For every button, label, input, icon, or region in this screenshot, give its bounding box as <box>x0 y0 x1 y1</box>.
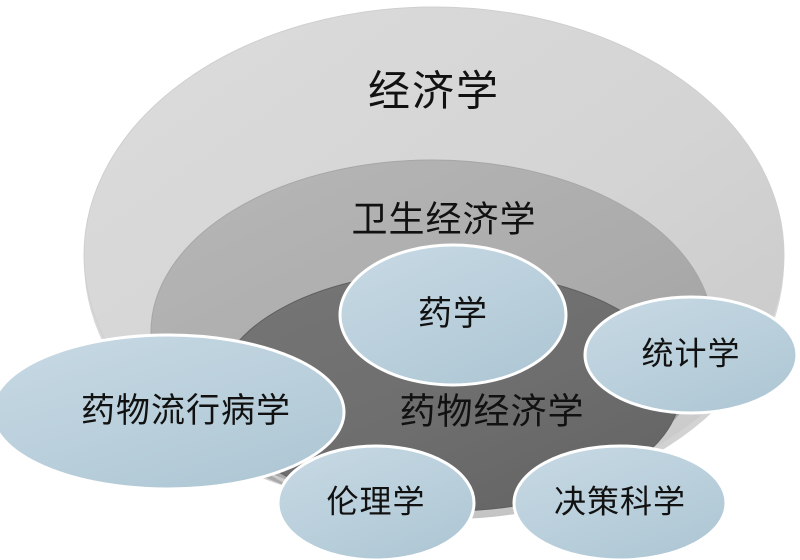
ring-health-economics-label: 卫生经济学 <box>351 199 536 239</box>
venn-diagram-canvas: 经济学 卫生经济学 药物经济学 药学 统计学 药物流行病学 <box>0 0 800 560</box>
node-pharmacy[interactable]: 药学 <box>340 245 566 385</box>
node-pharmacoepidemiology-label: 药物流行病学 <box>81 392 291 430</box>
venn-diagram-svg: 经济学 卫生经济学 药物经济学 药学 统计学 药物流行病学 <box>0 0 800 560</box>
node-decision-science-label: 决策科学 <box>554 483 686 519</box>
node-ethics[interactable]: 伦理学 <box>278 446 474 560</box>
node-pharmacoepidemiology[interactable]: 药物流行病学 <box>0 335 344 489</box>
node-statistics-label: 统计学 <box>641 335 740 371</box>
node-pharmacy-label: 药学 <box>418 295 488 333</box>
ring-economics-label: 经济学 <box>368 69 500 116</box>
node-statistics[interactable]: 统计学 <box>585 297 797 413</box>
ring-pharmacoeconomics-label: 药物经济学 <box>399 391 584 431</box>
node-ethics-label: 伦理学 <box>326 483 425 519</box>
node-decision-science[interactable]: 决策科学 <box>514 446 726 560</box>
